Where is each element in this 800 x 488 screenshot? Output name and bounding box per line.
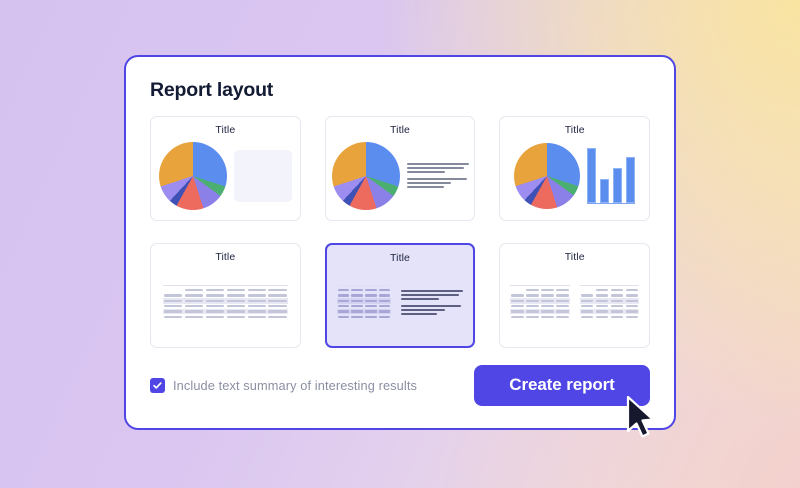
layout-option-table-wide[interactable]: Title (150, 243, 301, 348)
report-layout-dialog: Report layout Title Title (124, 55, 676, 430)
layout-option-two-tables[interactable]: Title (499, 243, 650, 348)
card-title: Title (508, 251, 641, 263)
page-title: Report layout (150, 79, 650, 102)
text-paragraph (401, 290, 463, 300)
card-title: Title (159, 124, 292, 136)
table-rule (163, 285, 288, 286)
layout-option-pie-bars[interactable]: Title (499, 116, 650, 221)
card-title: Title (334, 124, 467, 136)
card-preview (159, 266, 292, 339)
include-summary-checkbox-row[interactable]: Include text summary of interesting resu… (150, 378, 417, 393)
dialog-footer: Include text summary of interesting resu… (150, 360, 650, 410)
include-summary-label: Include text summary of interesting resu… (173, 378, 417, 393)
table-row (337, 314, 392, 319)
pie-chart-icon (159, 142, 227, 210)
table-row (510, 314, 569, 319)
card-preview (335, 267, 466, 338)
text-paragraph (407, 163, 469, 173)
table-placeholder (580, 285, 639, 319)
placeholder-panel (234, 150, 292, 202)
table-rule (510, 285, 569, 286)
text-paragraph (407, 178, 469, 188)
text-paragraph (401, 305, 463, 315)
create-report-button[interactable]: Create report (474, 365, 650, 406)
text-summary-placeholder (401, 290, 463, 315)
layout-options-grid: Title Title (150, 116, 650, 348)
layout-option-table-text[interactable]: Title (325, 243, 476, 348)
card-preview (334, 139, 467, 212)
table-row (163, 314, 288, 319)
card-preview (508, 266, 641, 339)
table-rule (580, 285, 639, 286)
table-placeholder (337, 285, 392, 319)
table-row (580, 314, 639, 319)
pie-chart-icon (332, 142, 400, 210)
table-placeholder (163, 285, 288, 319)
table-placeholder (510, 285, 569, 319)
card-title: Title (508, 124, 641, 136)
include-summary-checkbox[interactable] (150, 378, 165, 393)
card-preview (508, 139, 641, 212)
card-preview (159, 139, 292, 212)
pie-chart-icon (514, 143, 580, 209)
text-summary-placeholder (407, 163, 469, 188)
layout-option-pie-text[interactable]: Title (325, 116, 476, 221)
table-pair (510, 285, 639, 319)
check-icon (152, 380, 163, 391)
card-title: Title (159, 251, 292, 263)
layout-option-pie-placeholder[interactable]: Title (150, 116, 301, 221)
table-rule (337, 285, 392, 286)
bar-chart-icon (587, 148, 635, 204)
card-title: Title (335, 252, 466, 264)
